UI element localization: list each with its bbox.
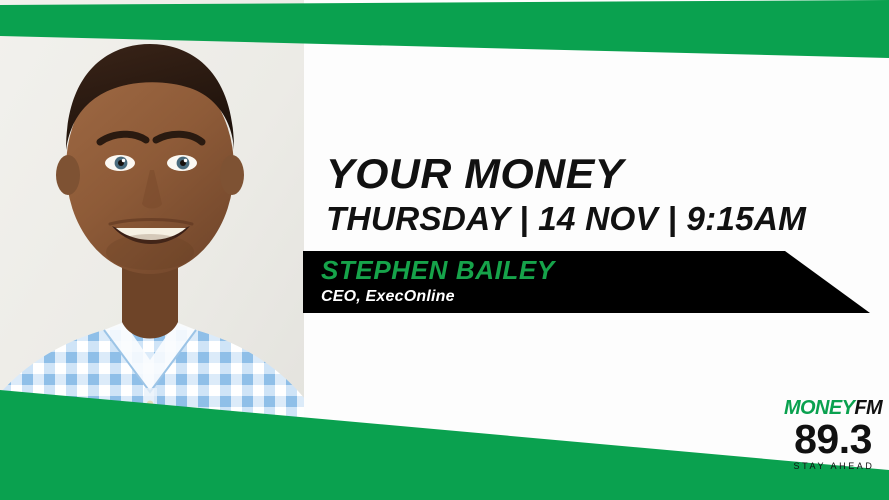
guest-photo (0, 0, 304, 500)
show-schedule: THURSDAY | 14 NOV | 9:15AM (326, 200, 871, 238)
logo-wordmark: MONEY FM (781, 398, 885, 418)
logo-money-text: MONEY (784, 398, 854, 418)
guest-name-banner: STEPHEN BAILEY CEO, ExecOnline (303, 251, 889, 313)
guest-name: STEPHEN BAILEY (321, 255, 781, 285)
logo-tagline: STAY AHEAD (783, 461, 885, 472)
promo-graphic: YOUR MONEY THURSDAY | 14 NOV | 9:15AM ST… (0, 0, 889, 500)
station-logo: MONEY FM 89.3 STAY AHEAD (781, 398, 885, 470)
logo-fm-text: FM (854, 398, 882, 418)
headline-block: YOUR MONEY THURSDAY | 14 NOV | 9:15AM (326, 152, 866, 238)
page-title: YOUR MONEY (326, 152, 877, 196)
guest-role: CEO, ExecOnline (321, 287, 781, 307)
logo-frequency: 89.3 (781, 420, 885, 458)
guest-name-banner-text: STEPHEN BAILEY CEO, ExecOnline (321, 255, 781, 307)
guest-photo-panel (0, 0, 304, 500)
